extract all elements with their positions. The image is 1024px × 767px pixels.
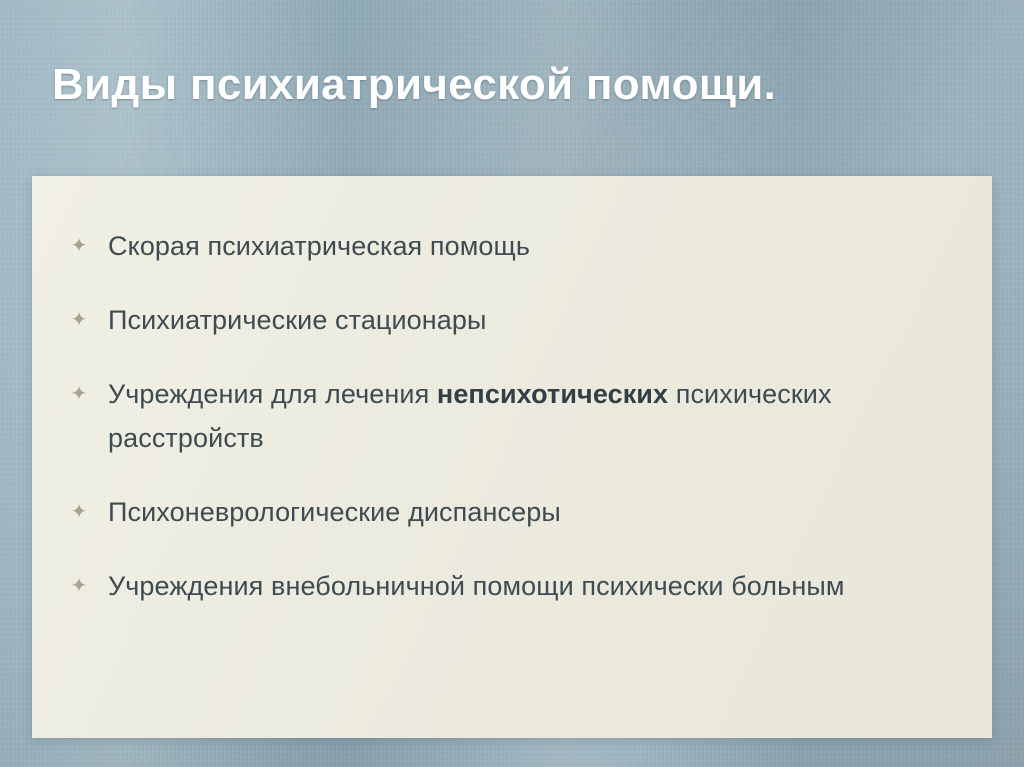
- diamond-bullet-icon: ✦: [50, 564, 108, 608]
- list-item-text: Скорая психиатрическая помощь: [108, 224, 968, 268]
- slide-content-panel: ✦ Скорая психиатрическая помощь ✦ Психиа…: [32, 176, 992, 738]
- diamond-bullet-icon: ✦: [50, 490, 108, 534]
- list-item: ✦ Скорая психиатрическая помощь: [50, 224, 968, 268]
- diamond-bullet-icon: ✦: [50, 372, 108, 416]
- diamond-bullet-icon: ✦: [50, 224, 108, 268]
- list-item-text: Учреждения для лечения непсихотических п…: [108, 372, 968, 460]
- slide-title: Виды психиатрической помощи.: [52, 58, 972, 112]
- list-item: ✦ Психиатрические стационары: [50, 298, 968, 342]
- list-item-text: Психоневрологические диспансеры: [108, 490, 968, 534]
- list-item-text: Психиатрические стационары: [108, 298, 968, 342]
- list-item: ✦ Психоневрологические диспансеры: [50, 490, 968, 534]
- diamond-bullet-icon: ✦: [50, 298, 108, 342]
- presentation-slide: Виды психиатрической помощи. ✦ Скорая пс…: [0, 0, 1024, 767]
- list-item: ✦ Учреждения внебольничной помощи психич…: [50, 564, 968, 608]
- bullet-list: ✦ Скорая психиатрическая помощь ✦ Психиа…: [50, 224, 968, 638]
- list-item-text: Учреждения внебольничной помощи психичес…: [108, 564, 968, 608]
- list-item: ✦ Учреждения для лечения непсихотических…: [50, 372, 968, 460]
